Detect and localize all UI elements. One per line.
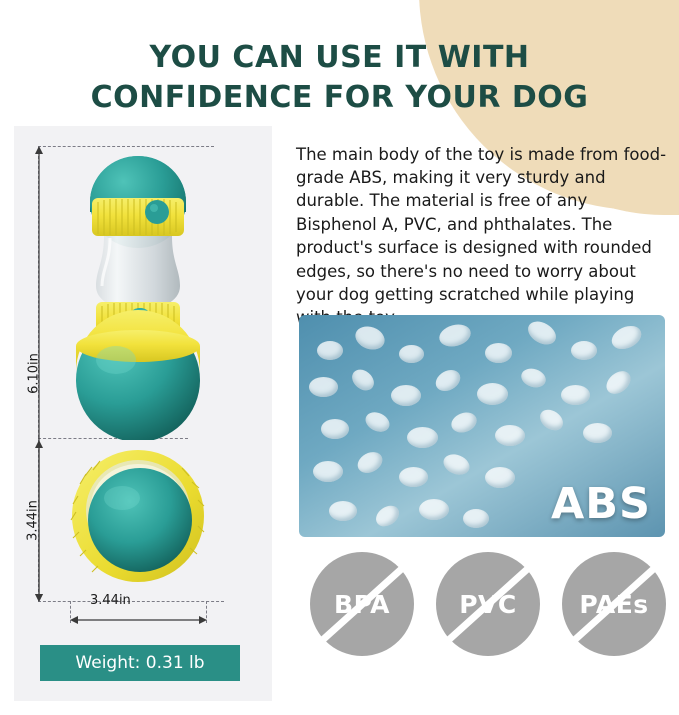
abs-material-photo: ABS — [299, 315, 665, 537]
badge-paes-free: PAEs — [562, 552, 666, 656]
dimension-guide-bottom — [38, 601, 224, 602]
product-image-toy-top-view — [70, 440, 206, 590]
dimension-label-total-height: 6.10in — [27, 339, 42, 409]
dimension-arrow-width — [70, 612, 207, 628]
dimension-label-width: 3.44in — [90, 593, 131, 608]
product-image-toy-side-view — [68, 150, 208, 440]
page-title-line-1: YOU CAN USE IT WITH — [0, 38, 679, 78]
dimension-label-bottom-height: 3.44in — [26, 486, 41, 556]
badge-slash-icon — [317, 563, 408, 646]
badge-bpa-free: BPA — [310, 552, 414, 656]
dimension-guide-top — [38, 146, 214, 147]
description-paragraph: The main body of the toy is made from fo… — [296, 143, 668, 330]
abs-photo-label: ABS — [551, 479, 651, 529]
badge-pvc-free: PVC — [436, 552, 540, 656]
weight-badge: Weight: 0.31 lb — [40, 645, 240, 681]
page-title-line-2: CONFIDENCE FOR YOUR DOG — [0, 78, 679, 118]
badge-slash-icon — [443, 563, 534, 646]
certification-badges: BPA PVC PAEs — [310, 552, 666, 662]
page-title: YOU CAN USE IT WITH CONFIDENCE FOR YOUR … — [0, 38, 679, 117]
